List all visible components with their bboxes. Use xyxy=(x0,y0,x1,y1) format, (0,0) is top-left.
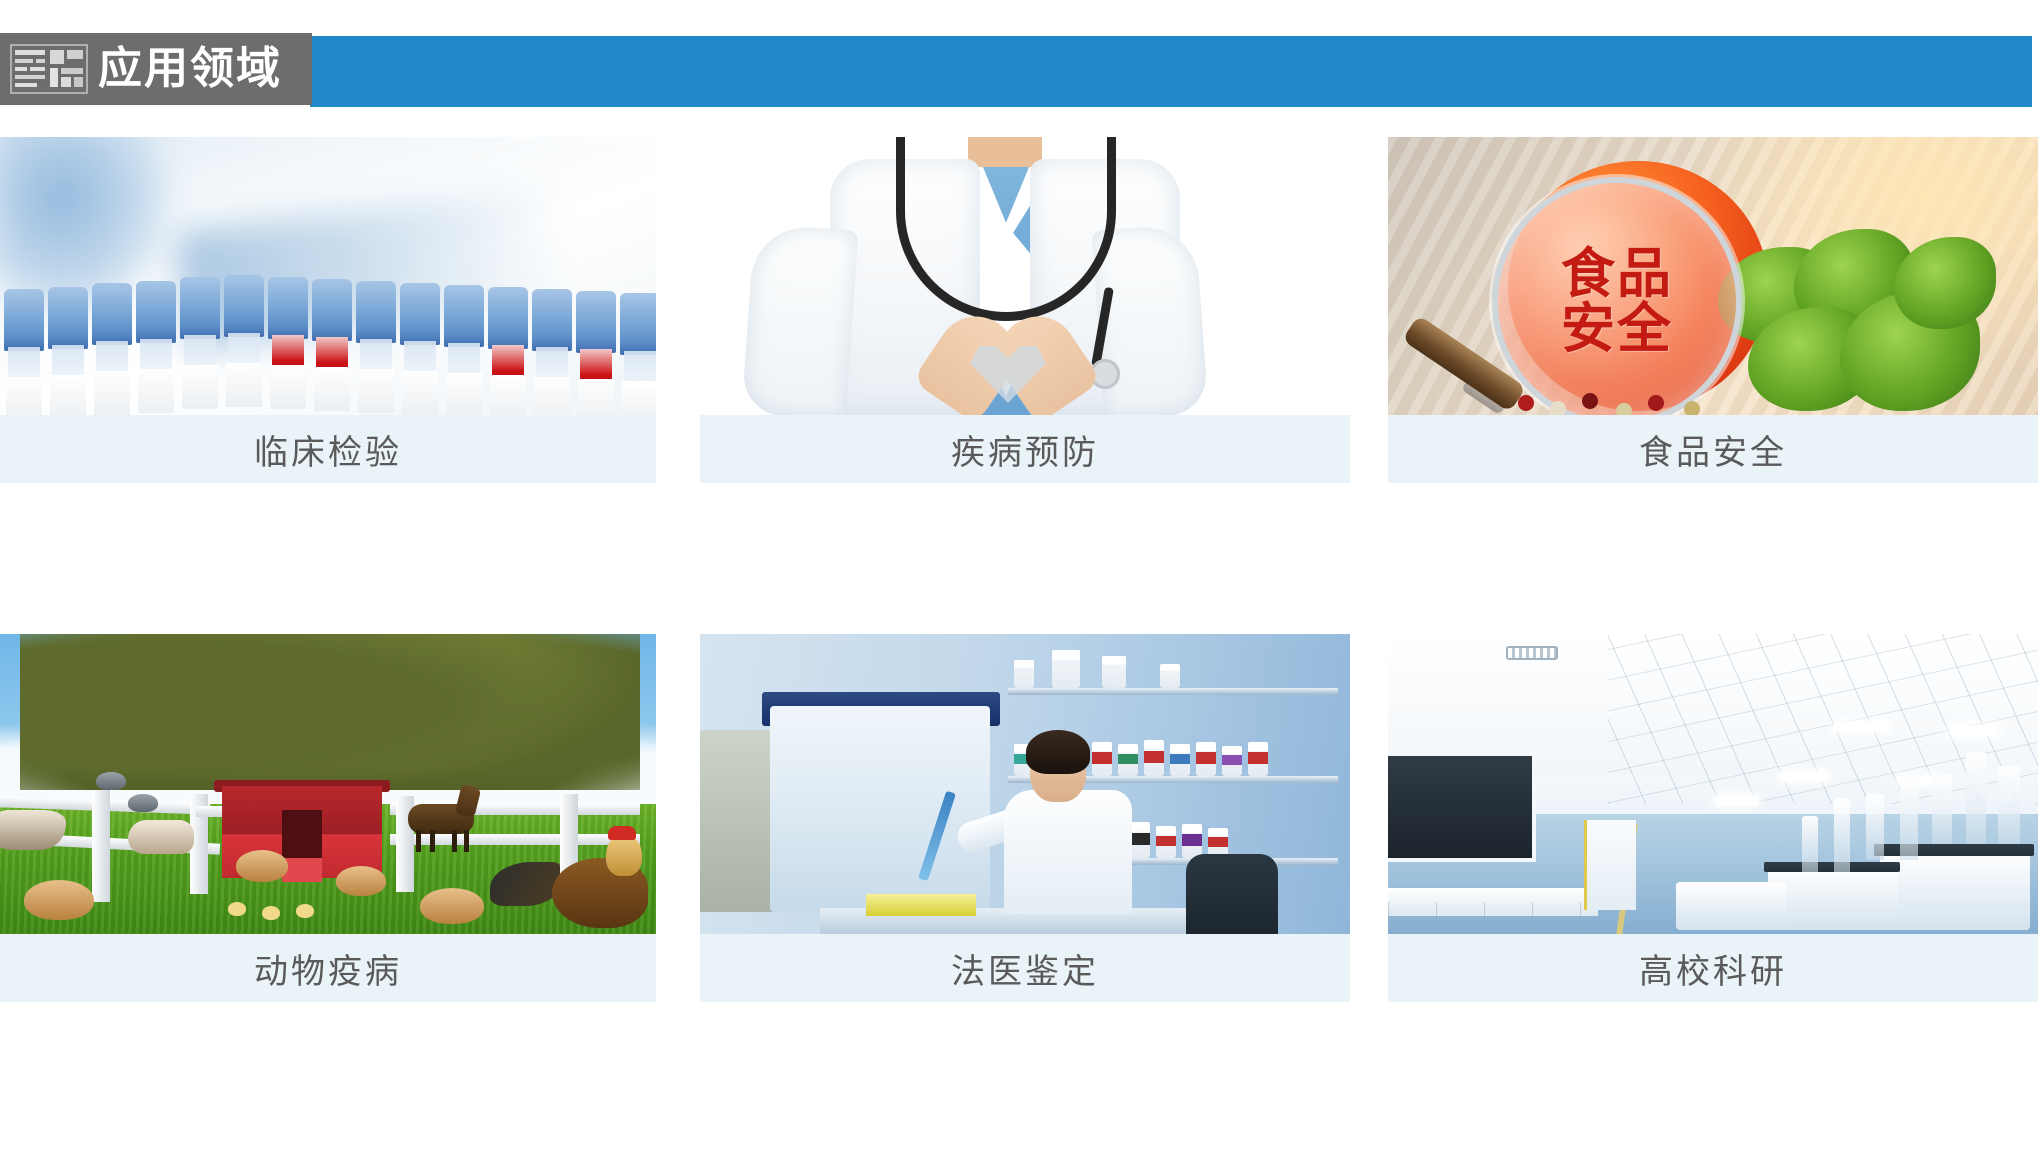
chicken-coop-ramp xyxy=(282,858,322,882)
glassware-rack xyxy=(1932,774,1952,844)
heart-hands-gesture xyxy=(938,315,1078,411)
ceiling-vent-icon xyxy=(1506,646,1558,660)
chicken-coop-door xyxy=(282,810,322,862)
chick xyxy=(228,902,246,916)
glassware-rack xyxy=(1966,752,1986,844)
glassware-rack xyxy=(1900,776,1918,860)
chicken xyxy=(336,866,386,896)
lab-island-bench xyxy=(1880,852,2030,930)
overlay-text-line-2: 安全 xyxy=(1561,302,1673,357)
magnifying-glass-lens: 食品 安全 xyxy=(1492,177,1742,415)
card-label: 疾病预防 xyxy=(700,415,1350,483)
card-label: 临床检验 xyxy=(0,415,656,483)
pigeon xyxy=(96,772,126,790)
bench-worktop xyxy=(1874,844,2034,856)
chick xyxy=(262,906,280,920)
forensic-laboratory-photo xyxy=(700,634,1350,934)
overlay-text-line-1: 食品 xyxy=(1561,247,1673,302)
farm-animals-photo xyxy=(0,634,656,934)
application-card-forensic-identification[interactable]: 法医鉴定 xyxy=(700,634,1350,1002)
card-label: 高校科研 xyxy=(1388,934,2038,1002)
ceiling-lamp xyxy=(1834,722,1888,731)
rooster-comb xyxy=(608,826,636,840)
lab-chair xyxy=(1186,854,1278,934)
chicken xyxy=(236,850,288,882)
tree-canopy xyxy=(20,634,640,790)
rooster-head xyxy=(606,834,642,876)
food-safety-magnifier-photo: 食品 安全 xyxy=(1388,137,2038,415)
card-label: 动物疫病 xyxy=(0,934,656,1002)
application-fields-grid: 临床检验 疾病预防 xyxy=(0,137,2038,1151)
chick xyxy=(296,904,314,918)
pigeon xyxy=(128,794,158,812)
scientist-lab-coat xyxy=(1004,790,1132,914)
doctor-sleeve-left xyxy=(741,224,858,415)
horse xyxy=(408,786,486,842)
doctor-heart-hands-photo xyxy=(700,137,1350,415)
fume-hood xyxy=(770,706,990,912)
lab-island-bench xyxy=(1768,868,1898,930)
card-label: 食品安全 xyxy=(1388,415,2038,483)
glassware-rack xyxy=(1802,816,1818,872)
blood-collection-tubes-photo xyxy=(0,137,656,415)
application-card-disease-prevention[interactable]: 疾病预防 xyxy=(700,137,1350,483)
lab-base-cabinets xyxy=(1388,902,1598,934)
section-header: 应用领域 xyxy=(0,33,2038,105)
ceiling-lamp xyxy=(1780,772,1828,781)
ceiling-lamp xyxy=(1716,796,1758,805)
page-title: 应用领域 xyxy=(98,47,282,91)
lab-island-bench xyxy=(1676,882,1786,930)
ceiling-lamp xyxy=(1950,726,1998,735)
interior-window xyxy=(1388,752,1536,862)
cow xyxy=(0,810,66,850)
glassware-rack xyxy=(1834,798,1850,872)
scientist-hair xyxy=(1026,730,1090,774)
peppercorns xyxy=(1508,385,1768,415)
glassware-rack xyxy=(1866,794,1884,860)
university-research-lab-photo xyxy=(1388,634,2038,934)
tube-rack xyxy=(0,277,656,415)
pig xyxy=(128,820,194,854)
glassware-rack xyxy=(1998,766,2020,844)
chicken xyxy=(24,880,94,920)
header-tab: 应用领域 xyxy=(0,33,312,105)
lab-door xyxy=(1584,820,1636,910)
chicken xyxy=(420,888,484,924)
application-card-university-research[interactable]: 高校科研 xyxy=(1388,634,2038,1002)
application-card-animal-disease[interactable]: 动物疫病 xyxy=(0,634,656,1002)
fence-post xyxy=(92,790,110,902)
application-card-clinical-testing[interactable]: 临床检验 xyxy=(0,137,656,483)
lab-equipment-icon xyxy=(10,44,88,94)
application-card-food-safety[interactable]: 食品 安全 食品安全 xyxy=(1388,137,2038,483)
sample-tray xyxy=(866,894,976,916)
card-label: 法医鉴定 xyxy=(700,934,1350,1002)
bench-worktop xyxy=(1764,862,1900,872)
header-blue-bar xyxy=(310,36,2032,102)
